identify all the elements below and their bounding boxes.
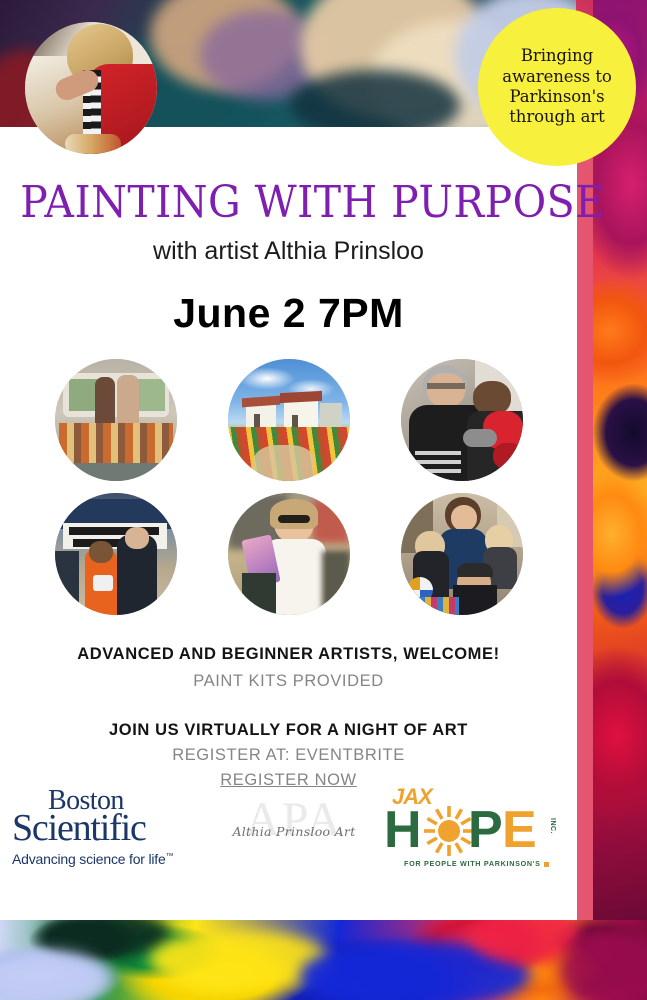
- photo-woman-with-artwork: [228, 493, 350, 615]
- artist-photo-palette: [65, 134, 121, 154]
- jax-tagline: FOR PEOPLE WITH PARKINSON'S: [404, 859, 554, 868]
- photo-boxing-class: [401, 359, 523, 481]
- paint-kits-line: PAINT KITS PROVIDED: [0, 672, 577, 691]
- jax-tagline-square-icon: [544, 862, 549, 867]
- welcome-line: ADVANCED AND BEGINNER ARTISTS, WELCOME!: [0, 645, 577, 664]
- join-line: JOIN US VIRTUALLY FOR A NIGHT OF ART: [0, 721, 577, 740]
- hope-letter-h: H: [384, 802, 419, 858]
- awareness-badge: Bringing awareness to Parkinson's throug…: [478, 8, 636, 166]
- pink-divider-bar: [576, 126, 593, 920]
- info-block: ADVANCED AND BEGINNER ARTISTS, WELCOME! …: [0, 645, 577, 790]
- apa-name-text: Althia Prinsloo Art: [218, 824, 370, 839]
- page-title: PAINTING WITH PURPOSE: [20, 177, 557, 228]
- althia-prinsloo-art-logo: APA Althia Prinsloo Art: [218, 796, 370, 868]
- jax-hope-logo: JAX H: [380, 784, 556, 876]
- photo-row-1: [55, 359, 523, 481]
- boston-scientific-tagline: Advancing science for life™: [12, 851, 202, 867]
- photo-two-women-booth: [55, 359, 177, 481]
- jax-wordmark: JAX: [392, 784, 432, 810]
- hope-wordmark: H: [382, 802, 554, 858]
- awareness-badge-text: Bringing awareness to Parkinson's throug…: [488, 46, 625, 128]
- hope-letter-p: P: [468, 802, 500, 858]
- artist-photo: [25, 22, 157, 154]
- trademark-symbol: ™: [166, 852, 174, 861]
- photo-family-group: [401, 493, 523, 615]
- boston-scientific-tagline-text: Advancing science for life: [12, 851, 166, 867]
- sunburst-icon: [424, 806, 474, 856]
- sponsor-logo-row: Boston Scientific Advancing science for …: [0, 782, 577, 892]
- jax-inc-text: INC.: [549, 818, 556, 834]
- photo-row-2: [55, 493, 523, 615]
- hope-letter-e: E: [502, 802, 534, 858]
- event-datetime: June 2 7PM: [0, 290, 577, 337]
- jax-tagline-text: FOR PEOPLE WITH PARKINSON'S: [404, 859, 541, 868]
- photo-painting-cottages: [228, 359, 350, 481]
- register-at-line: REGISTER AT: EVENTBRITE: [0, 746, 577, 765]
- footer-art-band: [0, 920, 647, 1000]
- photo-grid: [0, 359, 577, 615]
- poster-main-content: PAINTING WITH PURPOSE with artist Althia…: [0, 127, 577, 920]
- boston-scientific-line2: Scientific: [12, 811, 202, 847]
- event-subtitle: with artist Althia Prinsloo: [0, 237, 577, 266]
- photo-rock-steady-tent: [55, 493, 177, 615]
- boston-scientific-logo: Boston Scientific Advancing science for …: [12, 788, 202, 867]
